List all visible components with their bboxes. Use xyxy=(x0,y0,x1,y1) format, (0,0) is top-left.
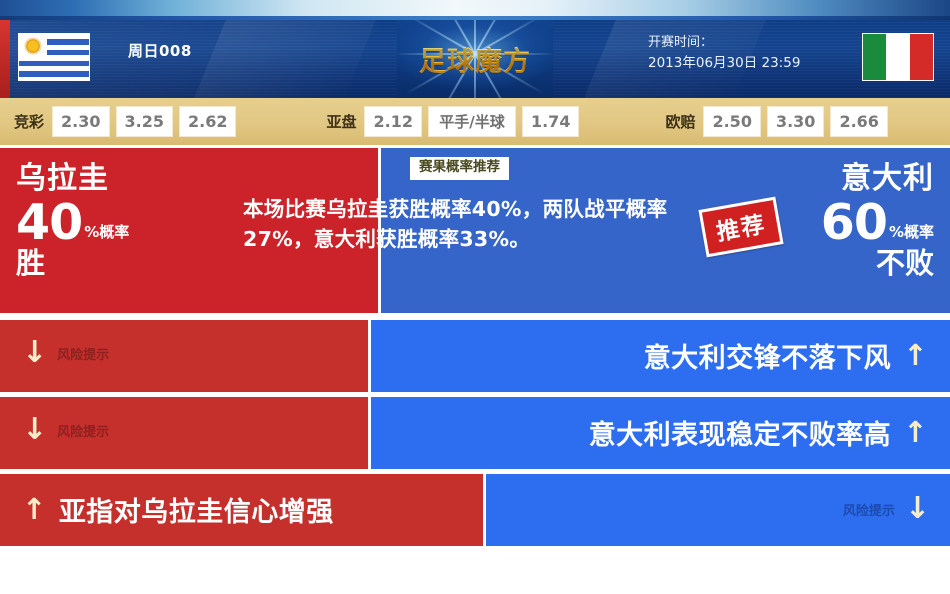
away-percent-suffix: %概率 xyxy=(889,225,934,247)
arrow-up-icon: ↑ xyxy=(903,418,928,447)
row-message-form: 意大利表现稳定不败率高 ↑ xyxy=(589,413,928,452)
arrow-up-icon: ↑ xyxy=(903,341,928,370)
odds-cell[interactable]: 2.12 xyxy=(364,106,421,137)
away-result-label: 不败 xyxy=(821,248,934,280)
risk-hint-label: 风险提示 xyxy=(57,421,109,440)
italy-flag-icon xyxy=(862,33,934,81)
odds-group-jingcai: 竞彩 2.30 3.25 2.62 xyxy=(14,106,242,137)
site-url[interactable]: www.huanhuba.com xyxy=(385,550,566,568)
odds-cell[interactable]: 3.25 xyxy=(116,106,173,137)
indicator-row-strength: ↓ 风险提示 实力战意 意大利交锋不落下风 ↑ xyxy=(0,320,950,392)
italy-flag-white-band xyxy=(886,34,909,80)
odds-cell[interactable]: 1.74 xyxy=(522,106,579,137)
site-logo[interactable]: 足球魔方 xyxy=(397,20,553,98)
odds-cell[interactable]: 2.66 xyxy=(830,106,887,137)
odds-cell[interactable]: 2.50 xyxy=(703,106,760,137)
match-round-label: 周日008 xyxy=(128,40,192,61)
probability-description: 本场比赛乌拉圭获胜概率40%，两队战平概率27%，意大利获胜概率33%。 xyxy=(243,194,675,255)
sun-of-may-icon xyxy=(26,39,41,54)
uruguay-flag-canton xyxy=(19,34,47,59)
home-percent-suffix: %概率 xyxy=(84,225,129,247)
italy-flag-red-band xyxy=(910,34,933,80)
arrow-down-icon: ↓ xyxy=(22,415,47,445)
row-message-betting: ↑ 亚指对乌拉圭信心增强 xyxy=(22,490,334,529)
row-risk-hint-left: ↓ 风险提示 xyxy=(22,415,109,445)
odds-cell-handicap[interactable]: 平手/半球 xyxy=(428,106,516,137)
header-red-accent-tab xyxy=(0,20,10,98)
footer-bar: www.huanhuba.com xyxy=(0,538,950,580)
indicator-row-form: ↓ 风险提示 状态伤停 意大利表现稳定不败率高 ↑ xyxy=(0,397,950,469)
odds-group-title: 竞彩 xyxy=(14,111,44,132)
odds-group-yapan: 亚盘 2.12 平手/半球 1.74 xyxy=(326,106,585,137)
row-message-text: 亚指对乌拉圭信心增强 xyxy=(59,490,334,529)
indicator-row-betting-data: ↑ 亚指对乌拉圭信心增强 足彩数据 风险提示 ↓ xyxy=(0,474,950,546)
row-risk-hint-right: 风险提示 ↓ xyxy=(843,494,930,524)
kickoff-time-block: 开赛时间： 2013年06月30日 23:59 xyxy=(648,33,848,74)
kickoff-value: 2013年06月30日 23:59 xyxy=(648,53,848,74)
kickoff-label: 开赛时间： xyxy=(648,33,848,53)
home-win-percent: 40 xyxy=(16,198,82,247)
row-message-text: 意大利表现稳定不败率高 xyxy=(589,413,892,452)
home-team-block: 乌拉圭 40 %概率 胜 xyxy=(16,162,129,279)
italy-flag-green-band xyxy=(863,34,886,80)
odds-cell[interactable]: 2.30 xyxy=(52,106,109,137)
home-team-name: 乌拉圭 xyxy=(16,162,129,196)
home-result-label: 胜 xyxy=(16,248,129,280)
odds-group-title: 欧赔 xyxy=(665,111,695,132)
odds-cell[interactable]: 2.62 xyxy=(179,106,236,137)
infographic-canvas: 周日008 足球魔方 开赛时间： 2013年06月30日 23:59 竞彩 2.… xyxy=(0,0,950,594)
odds-bar: 竞彩 2.30 3.25 2.62 亚盘 2.12 平手/半球 1.74 欧赔 … xyxy=(0,98,950,145)
odds-cell[interactable]: 3.30 xyxy=(767,106,824,137)
away-team-block: 意大利 60 %概率 不败 xyxy=(821,162,934,279)
row-message-strength: 意大利交锋不落下风 ↑ xyxy=(644,336,928,375)
site-logo-text: 足球魔方 xyxy=(397,40,553,79)
uruguay-flag-icon xyxy=(18,33,90,81)
odds-group-oupei: 欧赔 2.50 3.30 2.66 xyxy=(665,106,893,137)
header-diagonal-shine-1 xyxy=(194,20,376,98)
risk-hint-label: 风险提示 xyxy=(57,344,109,363)
away-team-name: 意大利 xyxy=(821,162,934,196)
arrow-down-icon: ↓ xyxy=(22,338,47,368)
badge-result-probability[interactable]: 赛果概率推荐 xyxy=(410,157,509,180)
odds-group-title: 亚盘 xyxy=(326,111,356,132)
away-win-percent: 60 xyxy=(821,198,887,247)
risk-hint-label: 风险提示 xyxy=(843,500,895,519)
row-message-text: 意大利交锋不落下风 xyxy=(644,336,892,375)
row-risk-hint-left: ↓ 风险提示 xyxy=(22,338,109,368)
footer-base-strip xyxy=(0,580,950,594)
arrow-down-icon: ↓ xyxy=(905,494,930,524)
arrow-up-icon: ↑ xyxy=(22,495,47,524)
